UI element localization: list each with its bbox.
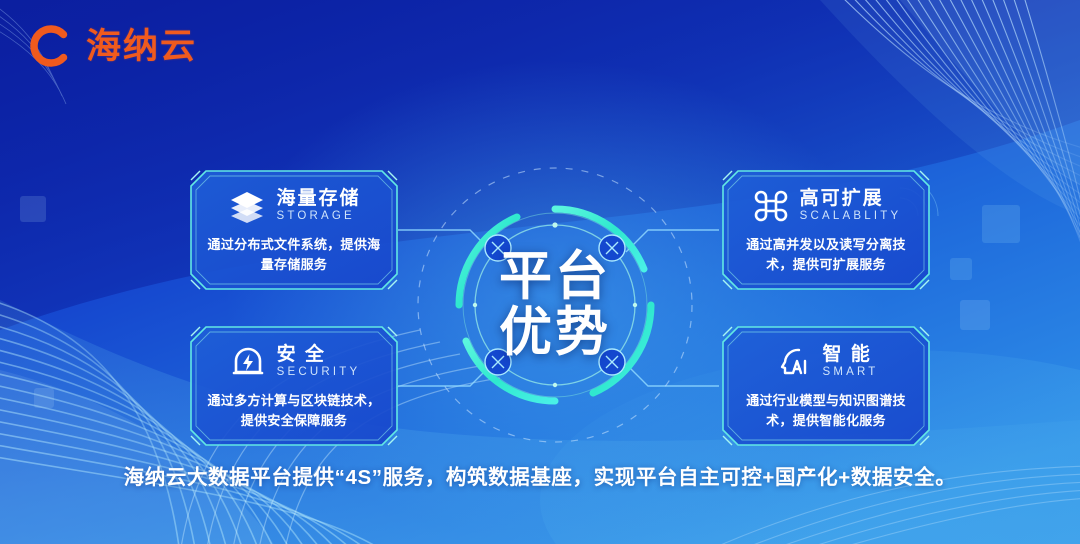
c-swirl-icon bbox=[26, 22, 74, 70]
card-title-cn: 安 全 bbox=[277, 344, 326, 366]
shield-bolt-icon bbox=[228, 342, 268, 382]
ai-head-icon bbox=[773, 342, 813, 382]
card-description: 通过分布式文件系统，提供海量存储服务 bbox=[201, 235, 387, 275]
brand-logo[interactable]: 海纳云 bbox=[26, 22, 197, 70]
layers-stack-icon bbox=[227, 186, 267, 226]
card-title-en: SMART bbox=[822, 365, 878, 380]
card-title-cn: 智 能 bbox=[822, 344, 871, 366]
card-description: 通过多方计算与区块链技术，提供安全保障服务 bbox=[201, 391, 387, 431]
brand-name: 海纳云 bbox=[86, 29, 197, 64]
card-security[interactable]: 安 全 SECURITY 通过多方计算与区块链技术，提供安全保障服务 bbox=[190, 326, 398, 446]
card-description: 通过高并发以及读写分离技术，提供可扩展服务 bbox=[733, 235, 919, 275]
card-storage[interactable]: 海量存储 STORAGE 通过分布式文件系统，提供海量存储服务 bbox=[190, 170, 398, 290]
card-title-cn: 高可扩展 bbox=[800, 188, 884, 210]
hub-title-line1: 平台 bbox=[499, 250, 611, 304]
card-title-cn: 海量存储 bbox=[276, 188, 360, 210]
card-description: 通过行业模型与知识图谱技术，提供智能化服务 bbox=[733, 391, 919, 431]
hub-title-line2: 优势 bbox=[499, 306, 611, 360]
hub-title: 平台 优势 bbox=[443, 193, 667, 417]
card-smart[interactable]: 智 能 SMART 通过行业模型与知识图谱技术，提供智能化服务 bbox=[722, 326, 930, 446]
card-title-en: SECURITY bbox=[277, 365, 361, 380]
card-title-en: SCALABLITY bbox=[800, 209, 902, 224]
command-key-icon bbox=[751, 186, 791, 226]
card-title-en: STORAGE bbox=[276, 209, 354, 224]
footer-caption: 海纳云大数据平台提供“4S”服务，构筑数据基座，实现平台自主可控+国产化+数据安… bbox=[0, 460, 1080, 490]
center-hub: 平台 优势 bbox=[443, 193, 667, 417]
card-scalability[interactable]: 高可扩展 SCALABLITY 通过高并发以及读写分离技术，提供可扩展服务 bbox=[722, 170, 930, 290]
